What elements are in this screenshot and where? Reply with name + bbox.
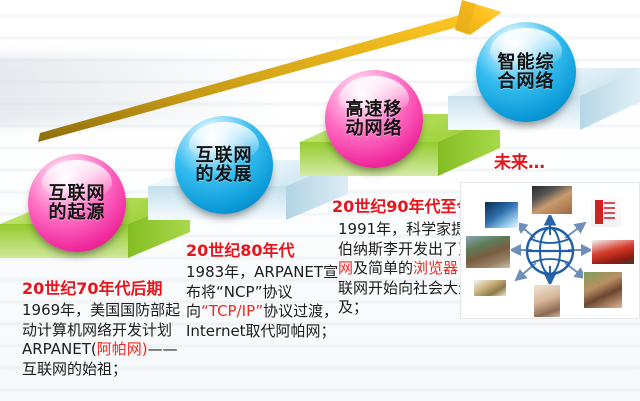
house-photo: [465, 235, 511, 269]
step-intelligent-sphere-line1: 智能综: [498, 53, 555, 72]
step-intelligent-sphere-line2: 合网络: [498, 72, 555, 91]
step-intelligent-sphere: 智能综 合网络: [476, 22, 576, 122]
thermometer-photo: [590, 196, 622, 228]
step-origin-sphere-line2: 的起源: [49, 203, 106, 222]
step-development-sphere: 互联网 的发展: [175, 116, 273, 214]
body-seg-highlight: “TCP/IP”: [201, 302, 263, 320]
step-mobile-sphere-line2: 动网络: [346, 119, 403, 138]
tv-photo: [484, 201, 519, 229]
body-seg-highlight: 阿帕网): [97, 340, 148, 358]
step-development-sphere-line1: 互联网: [196, 146, 253, 165]
step-intelligent-caption: 未来…: [494, 148, 545, 173]
car-photo: [591, 239, 635, 265]
step-mobile-sphere-line1: 高速移: [346, 100, 403, 119]
step-intelligent: 智能综 合网络 未来…: [448, 66, 640, 401]
infographic-stage: 互联网 的起源 20世纪70年代后期 1969年，美国国防部起动计算机网络开发计…: [0, 0, 640, 401]
step-development-caption: 20世纪80年代: [186, 237, 295, 261]
globe-icon: [523, 224, 577, 278]
step-origin-sphere-line1: 互联网: [49, 184, 106, 203]
step-development-sphere-line2: 的发展: [196, 165, 253, 184]
body-seg: ARPANET(: [22, 340, 97, 358]
step-mobile-sphere: 高速移 动网络: [325, 70, 423, 168]
step-origin-caption: 20世纪70年代后期: [22, 275, 163, 299]
iot-network-diagram: [460, 182, 640, 319]
camera-photo: [531, 185, 573, 215]
key-photo: [473, 279, 507, 297]
step-origin-sphere: 互联网 的起源: [28, 154, 126, 252]
baby-photo: [533, 284, 561, 318]
face-photo: [583, 271, 623, 309]
background-soft-shade: [0, 55, 280, 125]
body-seg: 及简单的: [353, 259, 413, 277]
